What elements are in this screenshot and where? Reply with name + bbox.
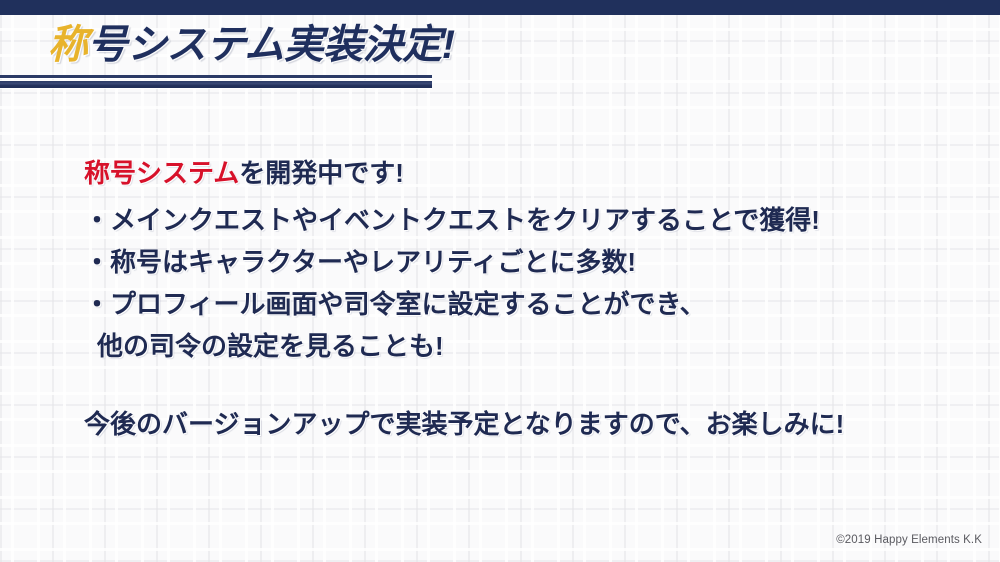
copyright-notice: ©2019 Happy Elements K.K — [836, 534, 982, 546]
page-title-accent: 称 — [48, 23, 88, 67]
body-bullet-3: ・プロフィール画面や司令室に設定することができ、 — [84, 283, 944, 325]
body-headline-rest: を開発中です! — [239, 158, 404, 188]
page-title: 称号システム実装決定! — [48, 23, 455, 67]
slide-root: 称号システム実装決定! 称号システムを開発中です! ・メインクエストやイベントク… — [0, 0, 1000, 562]
title-underline-thin — [0, 75, 432, 78]
body-bullet-3-continuation: 他の司令の設定を見ることも! — [84, 325, 944, 367]
body-headline-highlight: 称号システム — [84, 158, 239, 188]
page-title-main: 号システム実装決定! — [88, 23, 455, 67]
body-spacer — [84, 367, 944, 403]
body-bullet-1: ・メインクエストやイベントクエストをクリアすることで獲得! — [84, 199, 944, 241]
body-headline: 称号システムを開発中です! — [84, 152, 944, 194]
body-closing: 今後のバージョンアップで実装予定となりますので、お楽しみに! — [84, 403, 944, 445]
top-accent-bar — [0, 0, 1000, 15]
title-underline-thick — [0, 81, 432, 88]
body-text-block: 称号システムを開発中です! ・メインクエストやイベントクエストをクリアすることで… — [84, 152, 944, 445]
body-bullet-2: ・称号はキャラクターやレアリティごとに多数! — [84, 241, 944, 283]
